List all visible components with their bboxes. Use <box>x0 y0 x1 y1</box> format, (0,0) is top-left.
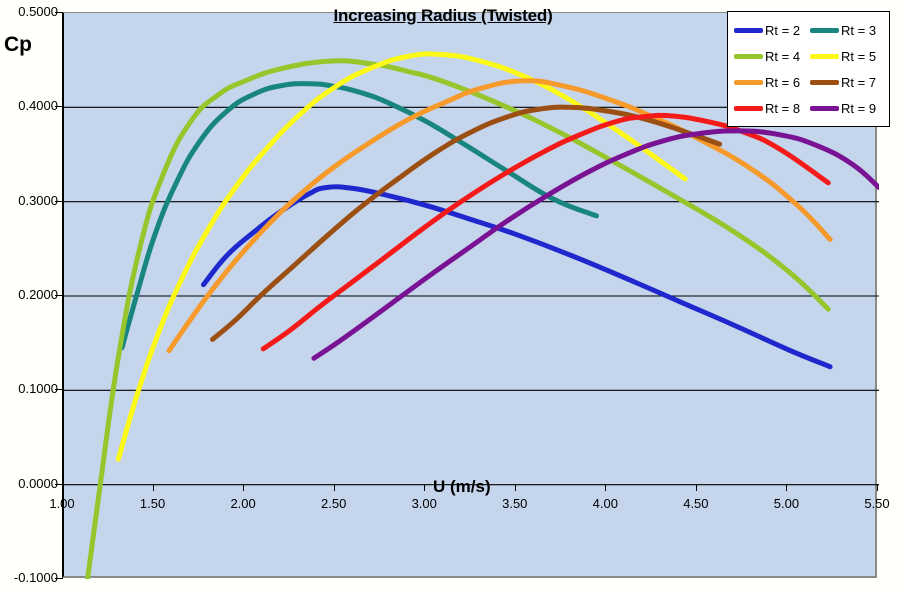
x-tick-mark <box>334 484 335 491</box>
legend-entry[interactable]: Rt = 9 <box>810 95 886 121</box>
x-tick-mark <box>243 484 244 491</box>
legend-entry[interactable]: Rt = 6 <box>734 69 810 95</box>
y-tick-label: 0.2000 <box>2 287 58 302</box>
legend-entry[interactable]: Rt = 8 <box>734 95 810 121</box>
legend-label: Rt = 4 <box>765 49 800 64</box>
x-tick-label: 2.50 <box>309 496 359 511</box>
legend-label: Rt = 5 <box>841 49 876 64</box>
chart-title: Increasing Radius (Twisted) <box>283 6 603 26</box>
y-tick-label: 0.3000 <box>2 193 58 208</box>
chart-page: Cp 0.50000.40000.30000.20000.10000.0000-… <box>0 0 903 592</box>
y-tick-label: 0.0000 <box>2 476 58 491</box>
x-tick-label: 5.50 <box>852 496 902 511</box>
legend-label: Rt = 6 <box>765 75 800 90</box>
y-tick-mark <box>55 578 63 579</box>
legend-color-swatch <box>734 28 763 33</box>
series-line-rt-5 <box>118 54 685 459</box>
x-tick-mark <box>424 484 425 491</box>
x-tick-mark <box>515 484 516 491</box>
legend-color-swatch <box>810 54 839 59</box>
x-tick-mark <box>696 484 697 491</box>
legend-color-swatch <box>810 80 839 85</box>
legend-color-swatch <box>734 54 763 59</box>
y-tick-mark <box>55 12 63 13</box>
y-tick-mark <box>55 201 63 202</box>
series-line-rt-8 <box>263 115 828 348</box>
x-tick-label: 4.50 <box>671 496 721 511</box>
x-tick-mark <box>877 484 878 491</box>
x-tick-mark <box>153 484 154 491</box>
x-axis-title: U (m/s) <box>433 477 491 497</box>
x-axis-tick-labels: 1.001.502.002.503.003.504.004.505.005.50 <box>0 496 903 516</box>
legend-color-swatch <box>734 106 763 111</box>
legend-label: Rt = 8 <box>765 101 800 116</box>
y-tick-mark <box>55 389 63 390</box>
x-tick-label: 3.50 <box>490 496 540 511</box>
legend-label: Rt = 9 <box>841 101 876 116</box>
x-tick-label: 1.00 <box>37 496 87 511</box>
legend-label: Rt = 2 <box>765 23 800 38</box>
legend-entry[interactable]: Rt = 5 <box>810 43 886 69</box>
legend-entry[interactable]: Rt = 3 <box>810 17 886 43</box>
legend-entry[interactable]: Rt = 4 <box>734 43 810 69</box>
y-tick-label: 0.5000 <box>2 4 58 19</box>
x-tick-mark <box>786 484 787 491</box>
legend-label: Rt = 7 <box>841 75 876 90</box>
y-tick-mark <box>55 106 63 107</box>
legend: Rt = 2Rt = 3Rt = 4Rt = 5Rt = 6Rt = 7Rt =… <box>727 11 890 127</box>
x-tick-label: 2.00 <box>218 496 268 511</box>
y-tick-label: -0.1000 <box>2 570 58 585</box>
x-tick-mark <box>605 484 606 491</box>
series-line-rt-7 <box>213 107 720 339</box>
x-tick-label: 5.00 <box>761 496 811 511</box>
x-tick-label: 3.00 <box>399 496 449 511</box>
x-tick-label: 1.50 <box>128 496 178 511</box>
x-tick-mark <box>62 484 63 491</box>
legend-entry[interactable]: Rt = 2 <box>734 17 810 43</box>
legend-color-swatch <box>810 28 839 33</box>
legend-label: Rt = 3 <box>841 23 876 38</box>
y-tick-label: 0.4000 <box>2 98 58 113</box>
y-tick-mark <box>55 295 63 296</box>
y-tick-label: 0.1000 <box>2 381 58 396</box>
x-tick-label: 4.00 <box>580 496 630 511</box>
series-line-rt-3 <box>122 84 597 348</box>
legend-entry[interactable]: Rt = 7 <box>810 69 886 95</box>
legend-color-swatch <box>810 106 839 111</box>
legend-color-swatch <box>734 80 763 85</box>
